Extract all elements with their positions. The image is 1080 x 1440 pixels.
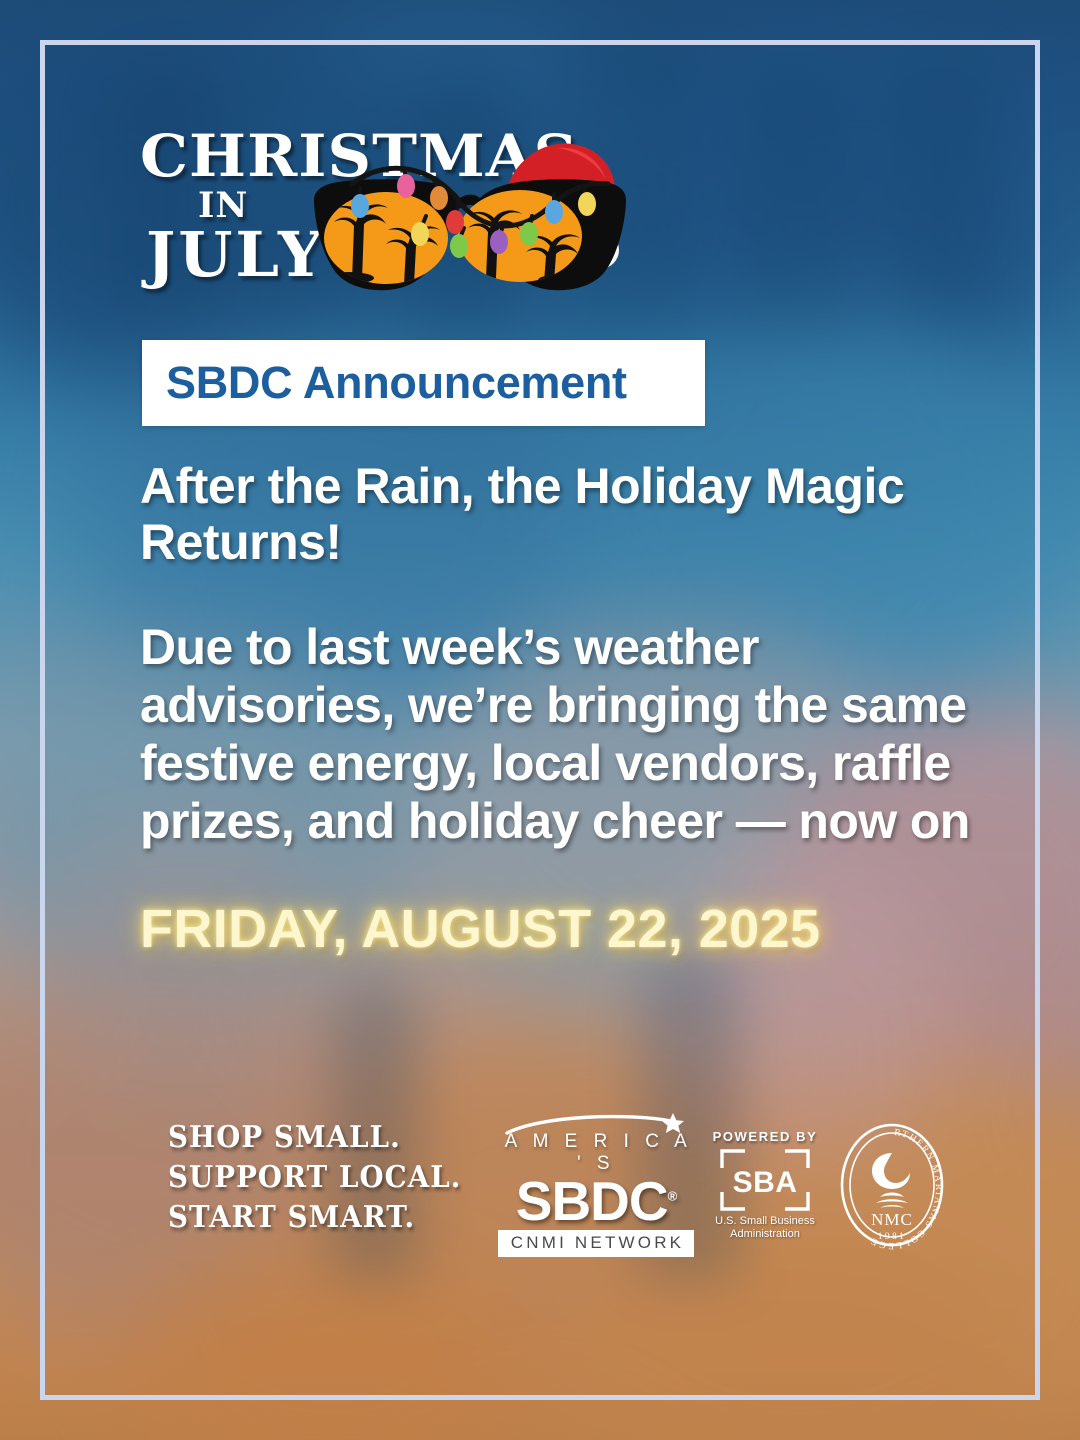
sba-agency-name: U.S. Small Business Administration: [712, 1215, 818, 1242]
event-date: FRIDAY, AUGUST 22, 2025: [140, 898, 1020, 960]
tagline: SHOP SMALL. SUPPORT LOCAL. START SMART.: [168, 1118, 461, 1238]
svg-text:SBA: SBA: [733, 1166, 798, 1199]
svg-text:1981: 1981: [878, 1232, 907, 1242]
footer: SHOP SMALL. SUPPORT LOCAL. START SMART. …: [168, 1110, 968, 1260]
svg-text:NMC: NMC: [871, 1210, 913, 1229]
sbdc-network-label: CNMI NETWORK: [498, 1230, 694, 1257]
sunglasses-icon: [308, 138, 628, 313]
partner-logo-row: A M E R I C A ' S SBDC® CNMI NETWORK POW…: [498, 1110, 948, 1260]
sba-logo: POWERED BY SBA U.: [712, 1129, 818, 1242]
sba-mark-icon: SBA: [719, 1148, 811, 1212]
announcement-chip-label: SBDC Announcement: [142, 357, 627, 409]
poster-canvas: CHRISTMAS IN JULY: [0, 0, 1080, 1440]
sbdc-announcement-chip: SBDC Announcement: [142, 340, 705, 426]
sbdc-americas-label: A M E R I C A ' S: [498, 1131, 694, 1175]
tagline-line-3: START SMART.: [168, 1198, 461, 1238]
christmas-in-july-logo: CHRISTMAS IN JULY: [140, 128, 620, 313]
sbdc-registered-mark: ®: [668, 1189, 677, 1204]
sbdc-acronym-text: SBDC: [516, 1170, 668, 1232]
announcement-body: Due to last week’s weather advisories, w…: [140, 618, 970, 850]
tagline-line-2: SUPPORT LOCAL.: [168, 1158, 461, 1198]
americas-sbdc-logo: A M E R I C A ' S SBDC® CNMI NETWORK: [498, 1113, 694, 1257]
tagline-line-1: SHOP SMALL.: [168, 1118, 461, 1158]
sba-agency-line-2: Administration: [712, 1228, 818, 1241]
northern-marianas-college-seal: NORTHERN MARIANAS COLLEGE NMC 1981: [836, 1119, 948, 1251]
sbdc-acronym: SBDC®: [498, 1173, 694, 1229]
sbdc-swoosh-star-icon: [498, 1113, 694, 1133]
sba-agency-line-1: U.S. Small Business: [712, 1215, 818, 1228]
sba-powered-by-label: POWERED BY: [712, 1129, 818, 1144]
page-title: After the Rain, the Holiday Magic Return…: [140, 458, 930, 570]
